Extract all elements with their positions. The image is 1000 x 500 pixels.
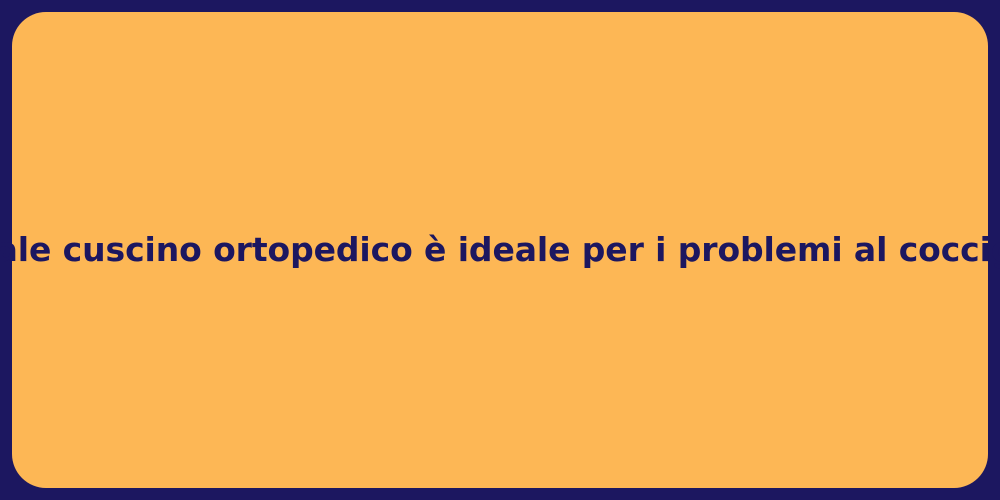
question-card-panel: Quale cuscino ortopedico è ideale per i … [12, 12, 988, 488]
question-card-frame: Quale cuscino ortopedico è ideale per i … [0, 0, 1000, 500]
question-headline: Quale cuscino ortopedico è ideale per i … [0, 229, 1000, 270]
